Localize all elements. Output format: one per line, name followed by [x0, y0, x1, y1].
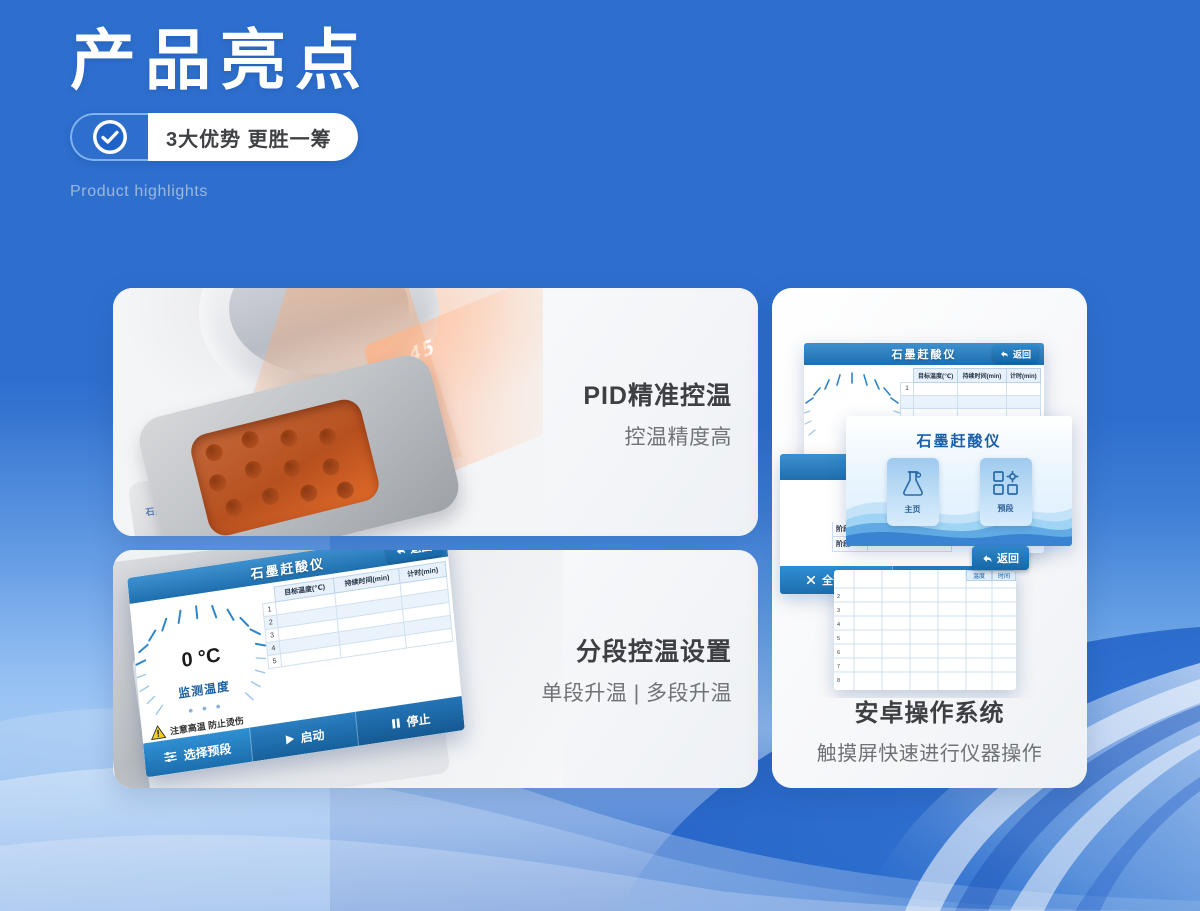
row-index: 5	[837, 632, 840, 646]
grid-table-headers: 温度 时间	[966, 570, 1016, 581]
floating-back-button[interactable]: 返回	[972, 546, 1029, 570]
card-segmented-temperature[interactable]: 石墨赶酸仪 返回	[113, 550, 758, 788]
row-index: 8	[837, 674, 840, 688]
back-arrow-icon	[1000, 350, 1009, 359]
check-circle-icon	[70, 113, 148, 161]
card-os-title: 安卓操作系统	[772, 693, 1087, 728]
col-time: 时间	[992, 570, 1016, 581]
card-android-os[interactable]: 石墨赶酸仪 返回	[772, 288, 1087, 788]
select-preset-label: 选择预段	[183, 739, 232, 763]
row-index: 7	[837, 660, 840, 674]
grid-lines	[834, 570, 1016, 690]
segmented-device-photo: 石墨赶酸仪 返回	[113, 550, 563, 788]
tile-home-label: 主页	[905, 504, 921, 515]
play-icon	[283, 733, 295, 746]
row-index: 1	[901, 383, 914, 396]
stop-label: 停止	[406, 709, 431, 729]
tile-home[interactable]: 主页	[887, 458, 939, 526]
dialog-title: 石墨赶酸仪	[846, 416, 1072, 451]
flask-icon	[901, 470, 925, 496]
sliders-icon	[163, 750, 178, 764]
row-index: 5	[268, 654, 282, 669]
card-segment-text: 分段控温设置 单段升温 | 多段升温	[541, 632, 732, 707]
segment-table-wrap: 目标温度(℃) 持续时间(min) 计时(min) 1 2 3 4 5	[260, 556, 461, 724]
tile-preset-label: 预段	[998, 503, 1014, 514]
row-index: 6	[837, 646, 840, 660]
card-pid-temperature-control[interactable]: 45 55 石墨赶酸仪	[113, 288, 758, 536]
row-index: 4	[837, 618, 840, 632]
back-button-label: 返回	[410, 550, 433, 557]
card-pid-text: PID精准控温 控温精度高	[583, 376, 732, 451]
temperature-gauge: 0 °C 监测温度 ● ● ● 注意高温 防止烫伤	[130, 585, 274, 744]
page-title: 产品亮点	[70, 26, 670, 95]
col-temperature: 温度	[966, 570, 992, 581]
floating-back-label: 返回	[997, 550, 1019, 566]
pid-product-photo: 45 55 石墨赶酸仪	[113, 288, 543, 536]
os-screen-grid-table[interactable]: 温度 时间 2 3 4 5 6 7 8	[834, 570, 1016, 690]
card-pid-subtitle: 控温精度高	[583, 421, 732, 451]
row-index: 3	[837, 604, 840, 618]
page-header: 产品亮点 3大优势 更胜一筹 Product highlights	[70, 26, 670, 201]
card-segment-subtitle: 单段升温 | 多段升温	[541, 677, 732, 707]
english-subtitle: Product highlights	[70, 183, 670, 201]
os-main-table: 目标温度(℃) 持续时间(min) 计时(min) 1	[900, 368, 1041, 422]
card-segment-title: 分段控温设置	[541, 632, 732, 668]
tile-preset[interactable]: 预段	[980, 458, 1032, 526]
start-label: 启动	[300, 725, 325, 745]
col-timer: 计时(min)	[1006, 369, 1040, 383]
os-screenshot-stack: 石墨赶酸仪 返回	[772, 288, 1087, 698]
back-arrow-icon	[982, 553, 993, 564]
grid-row-numbers: 2 3 4 5 6 7 8	[837, 590, 840, 688]
back-arrow-icon	[395, 550, 407, 557]
card-os-subtitle: 触摸屏快速进行仪器操作	[772, 737, 1087, 766]
pause-icon	[390, 717, 401, 729]
close-x-icon	[806, 575, 816, 585]
os-main-back-label: 返回	[1013, 348, 1031, 361]
os-main-back-button[interactable]: 返回	[993, 346, 1038, 363]
row-index: 2	[837, 590, 840, 604]
card-os-text: 安卓操作系统 触摸屏快速进行仪器操作	[772, 693, 1087, 766]
highlight-cards: 45 55 石墨赶酸仪	[113, 288, 1087, 788]
os-screen-home-dialog[interactable]: 石墨赶酸仪 主页	[846, 416, 1072, 546]
grid-gear-icon	[993, 471, 1019, 495]
os-main-title: 石墨赶酸仪	[892, 346, 957, 362]
table-row[interactable]: 1	[901, 383, 1041, 396]
badge-label: 3大优势 更胜一筹	[148, 113, 358, 161]
col-hold-time: 持续时间(min)	[958, 369, 1006, 383]
table-row[interactable]	[901, 396, 1041, 409]
card-pid-title: PID精准控温	[583, 376, 732, 412]
warning-triangle-icon	[149, 724, 166, 740]
highlight-badge: 3大优势 更胜一筹	[70, 113, 358, 161]
col-target-temp: 目标温度(℃)	[914, 369, 958, 383]
dialog-tiles: 主页	[846, 458, 1072, 526]
